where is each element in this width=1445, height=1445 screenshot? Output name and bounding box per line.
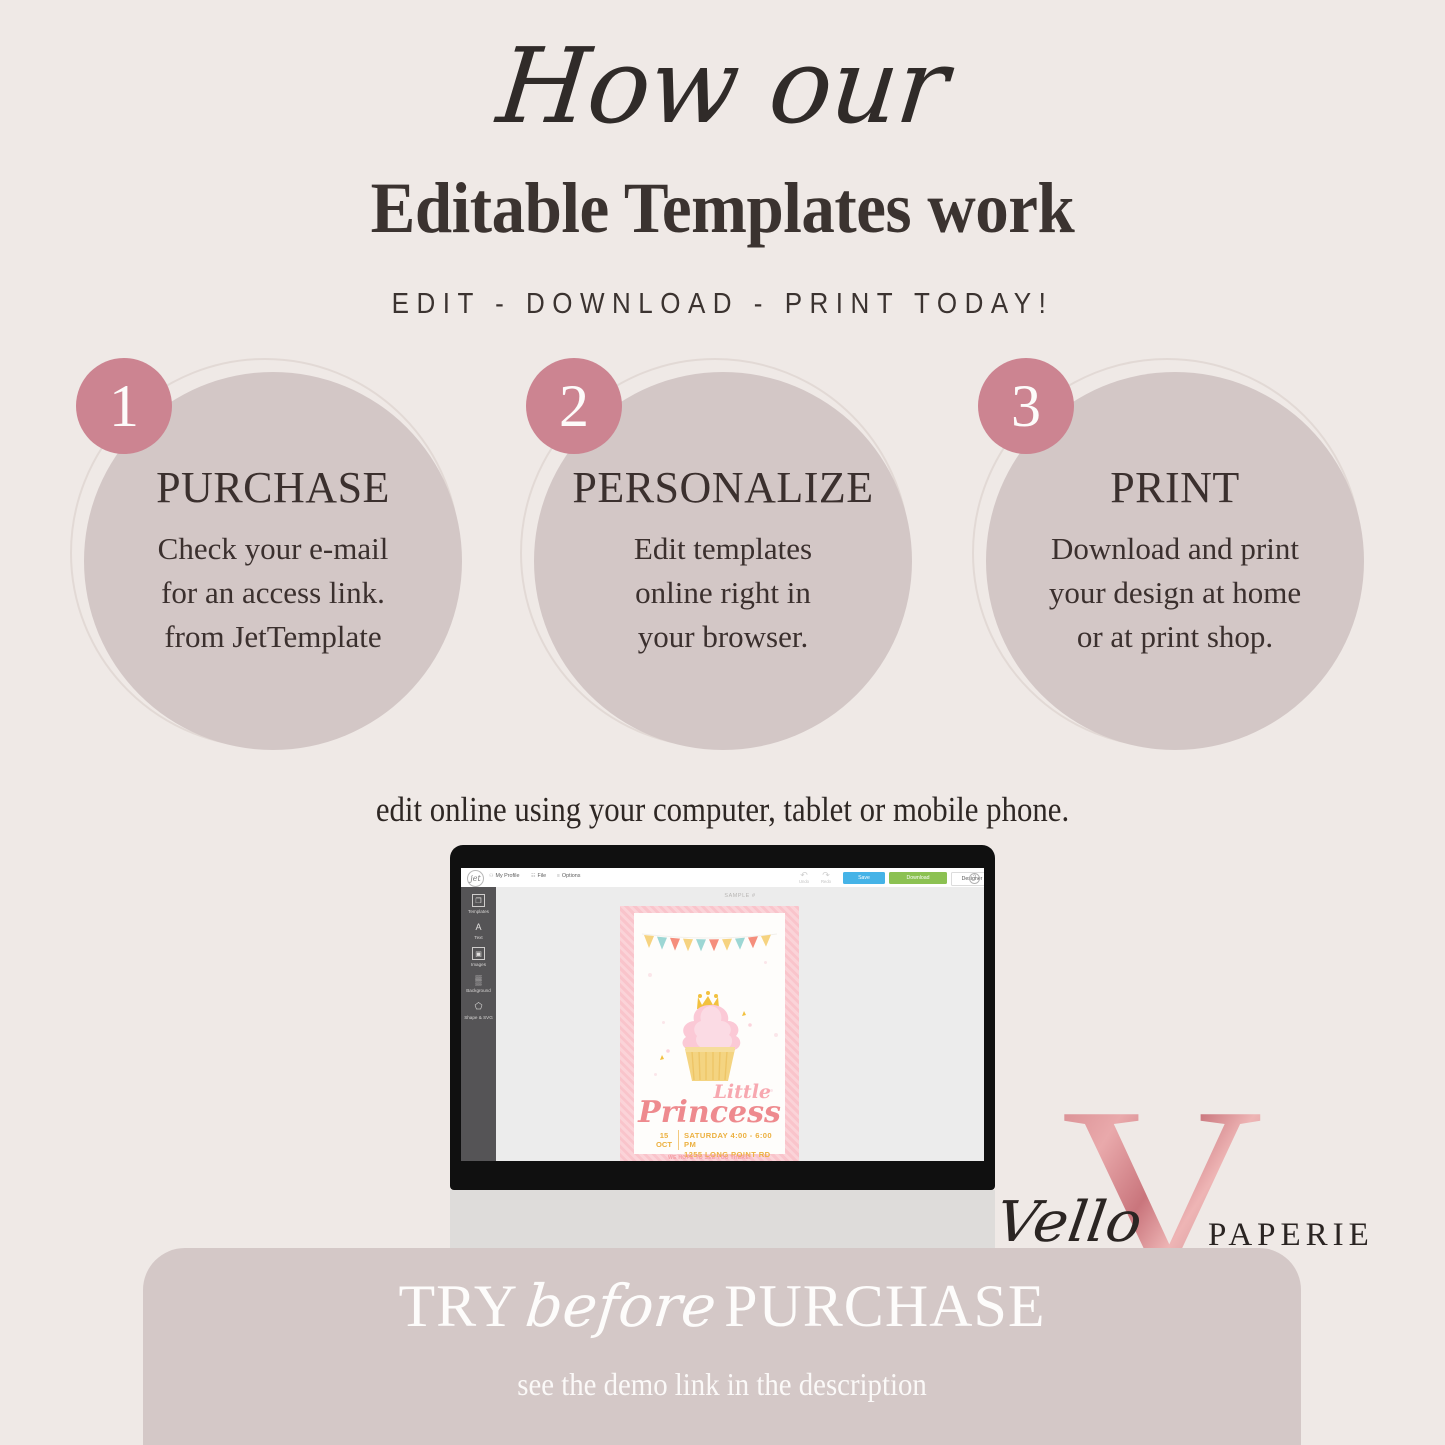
image-icon: ▣ (472, 947, 485, 960)
step-body: PRINT Download and print your design at … (986, 462, 1364, 659)
card-date-day: 15 (656, 1131, 672, 1140)
menu-label: File (537, 873, 546, 879)
sidebar-item-text[interactable]: A Text (461, 921, 496, 941)
try-before-purchase-panel: TRYbeforePURCHASE see the demo link in t… (143, 1248, 1301, 1445)
step-title: PRINT (986, 462, 1364, 513)
editor-screen: jet ⚇My Profile ☷File ≡Options ↶ Undo ↷ … (461, 868, 984, 1161)
sidebar-item-label: Text (474, 935, 482, 940)
sidebar-item-templates[interactable]: ❒ Templates (461, 894, 496, 914)
editor-sidebar: ❒ Templates A Text ▣ Images ▒ Background… (461, 887, 496, 1161)
jet-logo[interactable]: jet (467, 870, 484, 887)
devices-caption: edit online using your computer, tablet … (87, 790, 1359, 830)
step-body: PERSONALIZE Edit templates online right … (534, 462, 912, 659)
step-desc-line: from JetTemplate (84, 615, 462, 659)
menu-item-options[interactable]: ≡Options (557, 873, 581, 879)
card-title-main: Princess (634, 1095, 785, 1130)
help-icon[interactable]: ? (969, 873, 980, 884)
canvas-label: SAMPLE # (496, 893, 984, 899)
step-desc-line: your design at home (986, 571, 1364, 615)
step-number-badge: 1 (76, 358, 172, 454)
card-date: 15 OCT (656, 1131, 672, 1150)
menu-item-file[interactable]: ☷File (531, 873, 546, 879)
step-card-purchase: 1 PURCHASE Check your e-mail for an acce… (70, 358, 470, 758)
monitor-chin (450, 1190, 995, 1257)
invitation-card[interactable]: Little Princess 15 OCT SATURDAY 4:00 - 6… (620, 906, 799, 1161)
step-description: Download and print your design at home o… (986, 527, 1364, 659)
headline-main: Editable Templates work (51, 172, 1395, 244)
text-icon: A (472, 921, 485, 934)
step-desc-line: for an access link. (84, 571, 462, 615)
brand-script: Vello (992, 1190, 1146, 1255)
bunting-garland (642, 931, 777, 957)
sidebar-item-background[interactable]: ▒ Background (461, 974, 496, 994)
redo-arrow-icon: ↷ (817, 871, 835, 879)
step-body: PURCHASE Check your e-mail for an access… (84, 462, 462, 659)
step-card-print: 3 PRINT Download and print your design a… (972, 358, 1372, 758)
headline-subtitle: EDIT - DOWNLOAD - PRINT TODAY! (0, 286, 1445, 320)
step-description: Edit templates online right in your brow… (534, 527, 912, 659)
sidebar-item-shape-svg[interactable]: ⬠ Shape & SVG (461, 1000, 496, 1020)
sidebar-item-label: Shape & SVG (464, 1015, 493, 1020)
panel-subtitle: see the demo link in the description (201, 1366, 1243, 1403)
redo-label: Redo (821, 879, 831, 884)
step-description: Check your e-mail for an access link. fr… (84, 527, 462, 659)
panel-title: TRYbeforePURCHASE (143, 1272, 1301, 1341)
card-divider (678, 1130, 679, 1150)
menu-label: Options (562, 873, 581, 879)
panel-title-start: TRY (398, 1273, 518, 1339)
step-card-personalize: 2 PERSONALIZE Edit templates online righ… (520, 358, 920, 758)
save-button[interactable]: Save (843, 872, 885, 884)
poster-canvas: How our Editable Templates work EDIT - D… (0, 0, 1445, 1445)
menu-label: My Profile (495, 873, 519, 879)
user-icon: ⚇ (489, 873, 493, 879)
card-note: WE HOPE TO SEE YOU THERE! (634, 1155, 785, 1161)
sidebar-item-images[interactable]: ▣ Images (461, 947, 496, 967)
download-button[interactable]: Download (889, 872, 947, 884)
undo-label: Undo (799, 879, 809, 884)
step-desc-line: or at print shop. (986, 615, 1364, 659)
editor-canvas[interactable]: SAMPLE # (496, 887, 984, 1161)
templates-icon: ❒ (472, 894, 485, 907)
panel-title-end: PURCHASE (724, 1273, 1045, 1339)
step-desc-line: Edit templates (534, 527, 912, 571)
step-desc-line: Check your e-mail (84, 527, 462, 571)
card-inner-panel: Little Princess 15 OCT SATURDAY 4:00 - 6… (634, 913, 785, 1154)
step-desc-line: your browser. (534, 615, 912, 659)
grid-icon: ▒ (472, 974, 485, 987)
panel-title-mid: before (515, 1272, 728, 1340)
step-desc-line: online right in (534, 571, 912, 615)
sidebar-item-label: Background (466, 988, 491, 993)
steps-row: 1 PURCHASE Check your e-mail for an acce… (0, 358, 1445, 758)
step-title: PERSONALIZE (534, 462, 912, 513)
undo-arrow-icon: ↶ (795, 871, 813, 879)
headline-script: How our (0, 34, 1445, 138)
step-number-badge: 2 (526, 358, 622, 454)
shape-icon: ⬠ (472, 1000, 485, 1013)
file-icon: ☷ (531, 873, 535, 879)
sidebar-item-label: Images (471, 962, 486, 967)
step-number-badge: 3 (978, 358, 1074, 454)
card-date-month: OCT (656, 1140, 672, 1149)
card-info-line: SATURDAY 4:00 - 6:00 PM (684, 1131, 785, 1150)
redo-button[interactable]: ↷ Redo (817, 871, 835, 884)
editor-toolbar: jet ⚇My Profile ☷File ≡Options ↶ Undo ↷ … (461, 868, 984, 888)
menu-item-my-profile[interactable]: ⚇My Profile (489, 873, 519, 879)
cupcake-illustration (654, 991, 766, 1083)
sliders-icon: ≡ (557, 873, 560, 879)
step-desc-line: Download and print (986, 527, 1364, 571)
sidebar-item-label: Templates (468, 909, 489, 914)
monitor-mockup: jet ⚇My Profile ☷File ≡Options ↶ Undo ↷ … (440, 840, 1005, 1295)
step-title: PURCHASE (84, 462, 462, 513)
undo-button[interactable]: ↶ Undo (795, 871, 813, 884)
